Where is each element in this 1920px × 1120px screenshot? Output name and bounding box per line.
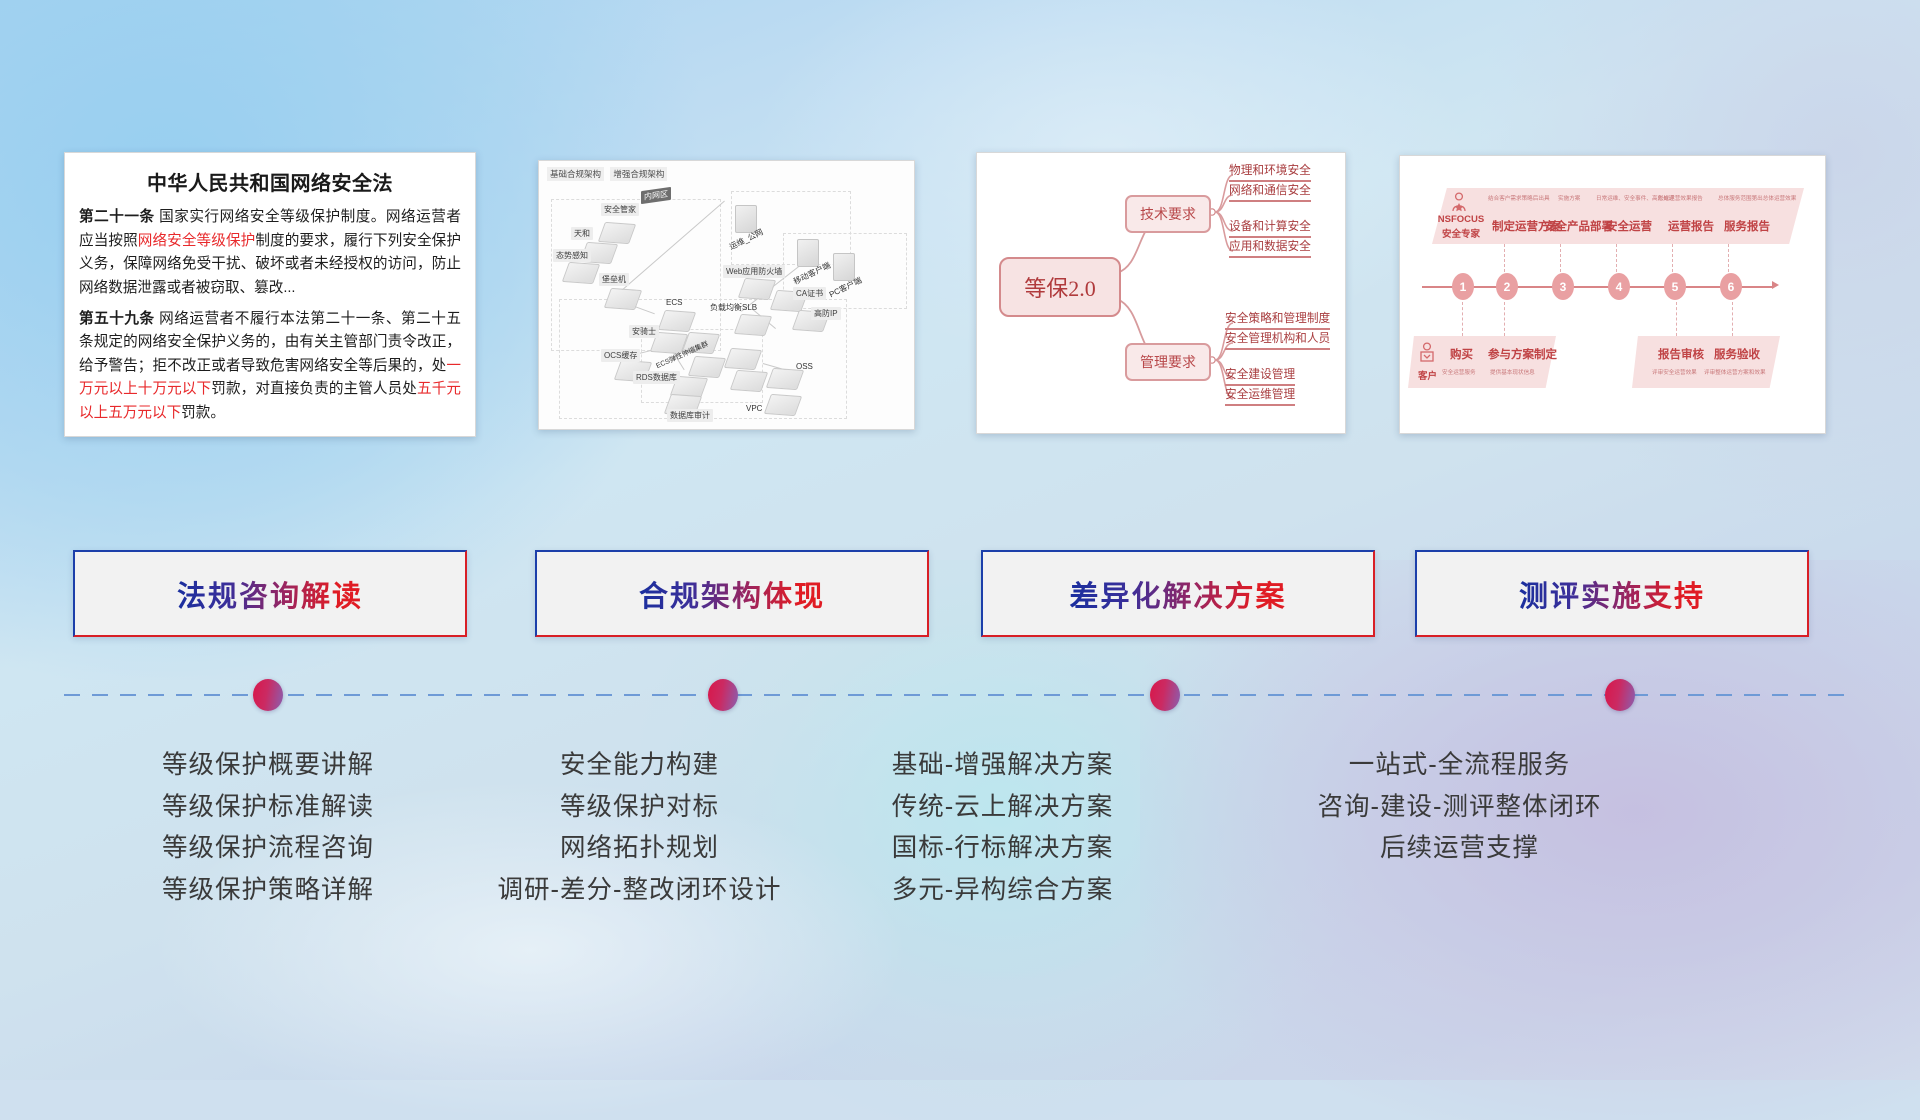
sub-join-plan: 提供基本现状信息 xyxy=(1490,368,1535,376)
mindmap-leaf-device-compute: 设备和计算安全 xyxy=(1229,217,1311,238)
timeline-dot-2[interactable] xyxy=(708,679,738,711)
label-ecs: ECS xyxy=(663,297,685,308)
sub-report-review: 评审安全运营效果 xyxy=(1652,368,1697,376)
list-item: 一站式-全流程服务 xyxy=(1212,745,1707,787)
connector-step-6-top xyxy=(1728,244,1730,272)
timeline-node-6[interactable]: 6 xyxy=(1720,273,1742,300)
node-ecs-3 xyxy=(691,357,723,377)
article-21-label: 第二十一条 xyxy=(79,209,155,225)
connector-step-6-bottom xyxy=(1732,302,1734,336)
timeline-node-3[interactable]: 3 xyxy=(1552,273,1574,300)
section-title-box-1[interactable]: 法规咨询解读 xyxy=(73,550,467,637)
label-join-plan: 参与方案制定 xyxy=(1488,346,1557,362)
sub-plan-operation: 结合客户需求策略后出具 xyxy=(1488,194,1550,202)
timeline-node-5[interactable]: 5 xyxy=(1664,273,1686,300)
label-oss: OSS xyxy=(793,361,816,372)
article-21-highlight: 网络安全等级保护 xyxy=(138,233,256,249)
node-security-butler xyxy=(601,223,633,243)
expert-person-icon xyxy=(1450,192,1468,212)
connector-step-5-bottom xyxy=(1676,302,1678,336)
list-item: 咨询-建设-测评整体闭环 xyxy=(1212,787,1707,829)
label-waf: Web应用防火墙 xyxy=(723,265,785,278)
mindmap-leaf-physical-env: 物理和环境安全 xyxy=(1229,161,1311,182)
mindmap-leaf-app-data: 应用和数据安全 xyxy=(1229,237,1311,258)
connector-step-3-top xyxy=(1560,244,1562,272)
timeline-node-2[interactable]: 2 xyxy=(1496,273,1518,300)
band-customer-end xyxy=(1632,336,1780,388)
mindmap-leaf-org-personnel: 安全管理机构和人员 xyxy=(1225,329,1330,350)
section-list-3: 基础-增强解决方案 传统-云上解决方案 国标-行标解决方案 多元-异构综合方案 xyxy=(755,745,1250,911)
mindmap: 等保2.0 技术要求 管理要求 物理和环境安全 网络和通信安全 设备和计算安全 … xyxy=(977,153,1345,433)
timeline-dot-3[interactable] xyxy=(1150,679,1180,711)
label-ops-report: 运营报告 xyxy=(1668,218,1714,234)
law-title: 中华人民共和国网络安全法 xyxy=(65,167,475,196)
label-purchase: 购买 xyxy=(1450,346,1473,362)
label-security-butler: 安全管家 xyxy=(601,203,639,216)
node-bastion xyxy=(607,289,639,309)
mindmap-leaf-security-policy: 安全策略和管理制度 xyxy=(1225,309,1330,330)
law-article-21: 第二十一条 国家实行网络安全等级保护制度。网络运营者应当按照网络安全等级保护制度… xyxy=(79,206,461,301)
mindmap-leaf-ops-mgmt: 安全运维管理 xyxy=(1225,385,1295,406)
sub-purchase: 安全运营服务 xyxy=(1442,368,1476,376)
card-dengbao-mindmap: 等保2.0 技术要求 管理要求 物理和环境安全 网络和通信安全 设备和计算安全 … xyxy=(976,152,1346,434)
node-mobile-client xyxy=(797,239,819,267)
label-anti-ddos-ip: 高防IP xyxy=(811,307,841,320)
list-item: 基础-增强解决方案 xyxy=(755,745,1250,787)
node-ecs xyxy=(661,311,693,331)
node-oss xyxy=(769,369,801,389)
label-ca-certificate: CA证书 xyxy=(793,287,826,300)
label-service-report: 服务报告 xyxy=(1724,218,1770,234)
label-bastion: 堡垒机 xyxy=(599,273,629,286)
customer-person-icon xyxy=(1418,342,1436,366)
list-item: 传统-云上解决方案 xyxy=(755,787,1250,829)
node-ecs-4 xyxy=(727,349,759,369)
node-slb xyxy=(737,315,769,335)
section-title-2: 合规架构体现 xyxy=(639,573,825,615)
label-db-audit: 数据库审计 xyxy=(667,409,713,422)
section-title-box-4[interactable]: 测评实施支持 xyxy=(1415,550,1809,637)
sub-ops-report: 形成运营效果报告 xyxy=(1658,194,1703,202)
list-item: 后续运营支撑 xyxy=(1212,828,1707,870)
article-59-label: 第五十九条 xyxy=(79,311,155,327)
section-title-4: 测评实施支持 xyxy=(1519,573,1705,615)
timeline-dashed-rail xyxy=(64,694,1856,696)
law-article-59: 第五十九条 网络运营者不履行本法第二十一条、第二十五条规定的网络安全保护义务的，… xyxy=(79,308,461,426)
timeline-node-4[interactable]: 4 xyxy=(1608,273,1630,300)
card-cloud-architecture: 基础合规架构 增强合规架构 内网区 安全管家 天和 态势感知 xyxy=(538,160,915,430)
sub-service-report: 总体服务范围第出总体运营效果 xyxy=(1718,194,1796,202)
timeline-arrow-icon xyxy=(1772,281,1779,289)
article-59-text-b: 罚款，对直接负责的主管人员处 xyxy=(211,381,417,397)
mindmap-leaf-construction-mgmt: 安全建设管理 xyxy=(1225,365,1295,386)
label-report-review: 报告审核 xyxy=(1658,346,1704,362)
timeline-dot-1[interactable] xyxy=(253,679,283,711)
section-title-1: 法规咨询解读 xyxy=(177,573,363,615)
label-slb: 负载均衡SLB xyxy=(707,301,760,314)
article-59-text-c: 罚款。 xyxy=(181,405,225,421)
architecture-tabs: 基础合规架构 增强合规架构 xyxy=(547,167,671,181)
label-rds-database: RDS数据库 xyxy=(633,371,680,384)
nsfocus-timeline: NSFOCUS 安全专家 客户 1 2 3 4 5 6 结合客户需求策略后出具 … xyxy=(1400,156,1825,433)
list-item: 多元-异构综合方案 xyxy=(755,870,1250,912)
label-product-deploy: 安全产品部署 xyxy=(1544,218,1613,234)
label-expert-role-line2: 安全专家 xyxy=(1436,226,1486,240)
connector-step-4-top xyxy=(1616,244,1618,272)
timeline-dot-4[interactable] xyxy=(1605,679,1635,711)
section-title-3: 差异化解决方案 xyxy=(1069,573,1286,615)
law-body: 第二十一条 国家实行网络安全等级保护制度。网络运营者应当按照网络安全等级保护制度… xyxy=(65,206,475,426)
connector-step-1-bottom xyxy=(1462,302,1464,336)
connector-step-5-top xyxy=(1672,244,1674,272)
architecture-canvas: 内网区 安全管家 天和 态势感知 堡垒机 ECS 安骑士 ECS弹性伸缩集群 O… xyxy=(545,181,908,423)
section-title-box-2[interactable]: 合规架构体现 xyxy=(535,550,929,637)
mindmap-branch-technical: 技术要求 xyxy=(1125,195,1211,233)
connector-step-2-bottom xyxy=(1504,302,1506,336)
node-waf xyxy=(741,279,773,299)
section-list-4: 一站式-全流程服务 咨询-建设-测评整体闭环 后续运营支撑 xyxy=(1212,745,1707,870)
card-nsfocus-service-timeline: NSFOCUS 安全专家 客户 1 2 3 4 5 6 结合客户需求策略后出具 … xyxy=(1399,155,1826,434)
sub-acceptance: 评审整体运营方案和效果 xyxy=(1704,368,1766,376)
node-situational-awareness xyxy=(565,263,597,283)
label-expert-role-line1: NSFOCUS xyxy=(1436,214,1486,225)
section-title-box-3[interactable]: 差异化解决方案 xyxy=(981,550,1375,637)
node-vpc xyxy=(767,395,799,415)
label-vpc: VPC xyxy=(743,403,765,414)
architecture-diagram: 基础合规架构 增强合规架构 内网区 安全管家 天和 态势感知 xyxy=(539,161,914,429)
connector-step-2-top xyxy=(1504,244,1506,272)
card-cybersecurity-law: 中华人民共和国网络安全法 第二十一条 国家实行网络安全等级保护制度。网络运营者应… xyxy=(64,152,476,437)
label-acceptance: 服务验收 xyxy=(1714,346,1760,362)
node-ecs-5 xyxy=(733,371,765,391)
tab-enhanced-architecture[interactable]: 增强合规架构 xyxy=(610,167,667,181)
list-item: 国标-行标解决方案 xyxy=(755,828,1250,870)
label-tianhe: 天和 xyxy=(571,227,593,240)
mindmap-root: 等保2.0 xyxy=(999,257,1121,317)
label-anqishi: 安骑士 xyxy=(629,325,659,338)
label-customer-role: 客户 xyxy=(1418,368,1437,382)
sub-product-deploy: 实施方案 xyxy=(1558,194,1580,202)
tab-basic-architecture[interactable]: 基础合规架构 xyxy=(547,167,604,181)
mindmap-leaf-network-comm: 网络和通信安全 xyxy=(1229,181,1311,202)
label-situational-awareness: 态势感知 xyxy=(553,249,591,262)
mindmap-branch-management: 管理要求 xyxy=(1125,343,1211,381)
timeline-node-1[interactable]: 1 xyxy=(1452,273,1474,300)
label-security-ops: 安全运营 xyxy=(1606,218,1652,234)
label-ocs-cache: OCS缓存 xyxy=(601,349,640,362)
